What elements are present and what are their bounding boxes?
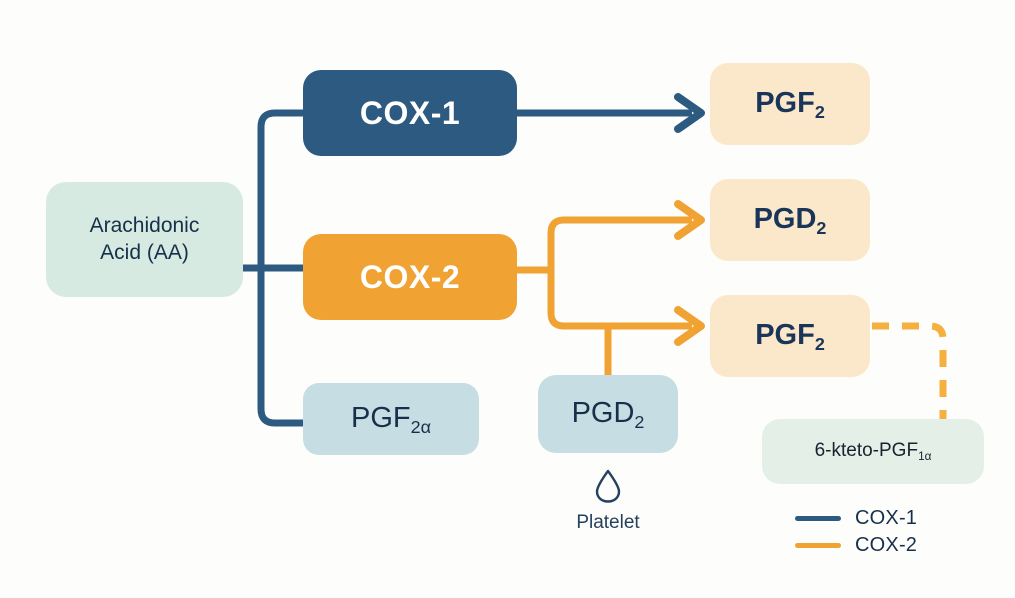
- legend-item-cox2: COX-2: [795, 532, 917, 559]
- arrowhead-cox2-pgf2: [678, 310, 701, 342]
- node-pgf2-mid[interactable]: PGF2: [710, 295, 870, 377]
- node-pgf2-mid-label: PGF2: [755, 317, 825, 354]
- edge-cox2-to-pgd2: [551, 220, 692, 270]
- legend-swatch-cox1: [795, 516, 841, 521]
- node-pgd2-right-label: PGD2: [754, 201, 827, 238]
- legend-item-cox1: COX-1: [795, 505, 917, 532]
- node-cox2-label: COX-2: [360, 257, 460, 298]
- node-pgd2-platelet-label: PGD2: [572, 395, 645, 432]
- legend: COX-1 COX-2: [795, 505, 917, 559]
- arrowhead-cox1-pgf2: [678, 97, 701, 129]
- platelet-label: Platelet: [576, 512, 639, 534]
- pathway-diagram: Arachidonic Acid (AA) COX-1 COX-2 PGF2α …: [0, 0, 1015, 598]
- edge-pgf2-to-keto-dashed: [872, 326, 943, 424]
- edge-trunk-to-cox1: [261, 113, 303, 423]
- arrowhead-cox2-pgd2: [678, 204, 701, 236]
- node-keto-pgf1-alpha[interactable]: 6-kteto-PGF1α: [762, 419, 984, 484]
- droplet-icon: [593, 468, 623, 504]
- legend-swatch-cox2: [795, 543, 841, 548]
- node-cox1[interactable]: COX-1: [303, 70, 517, 156]
- edge-cox2-to-pgf2: [551, 270, 692, 326]
- node-arachidonic-acid-label: Arachidonic Acid (AA): [90, 213, 200, 267]
- node-cox1-label: COX-1: [360, 93, 460, 134]
- node-pgf2-top[interactable]: PGF2: [710, 63, 870, 145]
- node-pgd2-right[interactable]: PGD2: [710, 179, 870, 261]
- node-pgf2-alpha-label: PGF2α: [351, 400, 431, 437]
- node-pgf2-top-label: PGF2: [755, 85, 825, 122]
- node-keto-pgf1-alpha-label: 6-kteto-PGF1α: [815, 439, 932, 463]
- legend-label-cox2: COX-2: [855, 534, 917, 557]
- platelet-marker: Platelet: [538, 468, 678, 534]
- node-pgd2-platelet[interactable]: PGD2: [538, 375, 678, 453]
- node-arachidonic-acid[interactable]: Arachidonic Acid (AA): [46, 182, 243, 297]
- node-cox2[interactable]: COX-2: [303, 234, 517, 320]
- node-pgf2-alpha[interactable]: PGF2α: [303, 383, 479, 455]
- legend-label-cox1: COX-1: [855, 507, 917, 530]
